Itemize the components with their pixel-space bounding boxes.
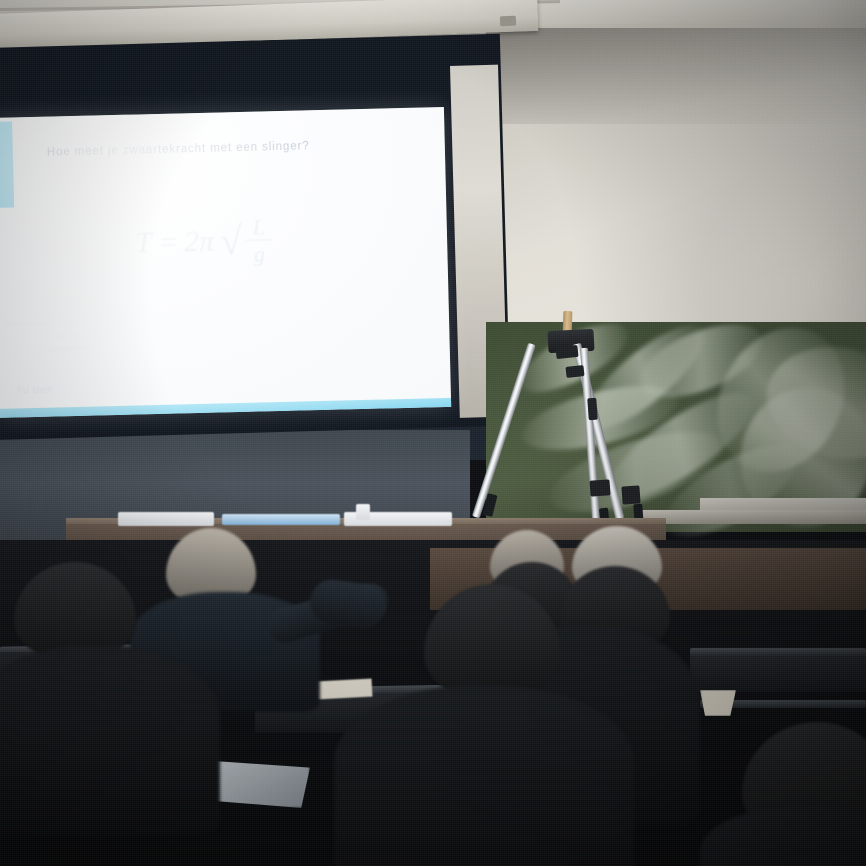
- tripod-clamp-top: [555, 345, 578, 359]
- projected-slide: Hoe meet je zwaartekracht met een slinge…: [0, 107, 451, 418]
- tripod-clamp-lower-right: [589, 479, 610, 496]
- tripod-clamp-upper: [565, 365, 584, 378]
- slide-title: Hoe meet je zwaartekracht met een slinge…: [47, 138, 397, 159]
- slide-logo: TU Delft: [17, 385, 54, 396]
- small-object-on-bench: [356, 504, 370, 520]
- bench-row-3: [690, 656, 866, 692]
- papers-stack-blue: [222, 514, 340, 525]
- papers-stack-left: [118, 512, 214, 526]
- paper-on-bench-2: [700, 690, 736, 716]
- tripod-clamp-lower: [621, 485, 640, 504]
- formula-equals: =: [157, 226, 178, 260]
- formula-denominator: g: [247, 240, 273, 266]
- slide-accent-bar-left: [0, 122, 14, 208]
- formula-numerator: L: [245, 215, 272, 241]
- formula-coefficient: 2π: [184, 225, 215, 260]
- person-body: [0, 646, 220, 836]
- formula-lhs: T: [135, 226, 153, 260]
- lecture-hall-photo: Hoe meet je zwaartekracht met een slinge…: [0, 0, 866, 866]
- chalk-ledge-lower: [640, 510, 866, 524]
- pendulum-period-formula: T = 2π √ L g: [134, 215, 272, 269]
- slide-body-text: ——— —— ——— —————: [5, 311, 266, 356]
- formula-fraction: L g: [245, 215, 272, 266]
- formula-radical-icon: √: [220, 227, 243, 256]
- valance-endcap: [500, 16, 516, 27]
- paper-on-bench-1: [316, 679, 373, 700]
- wall-shadow: [486, 28, 866, 124]
- person-body: [334, 686, 634, 866]
- wall-light-glow: [700, 150, 866, 340]
- tripod-clamp-mid: [587, 398, 598, 421]
